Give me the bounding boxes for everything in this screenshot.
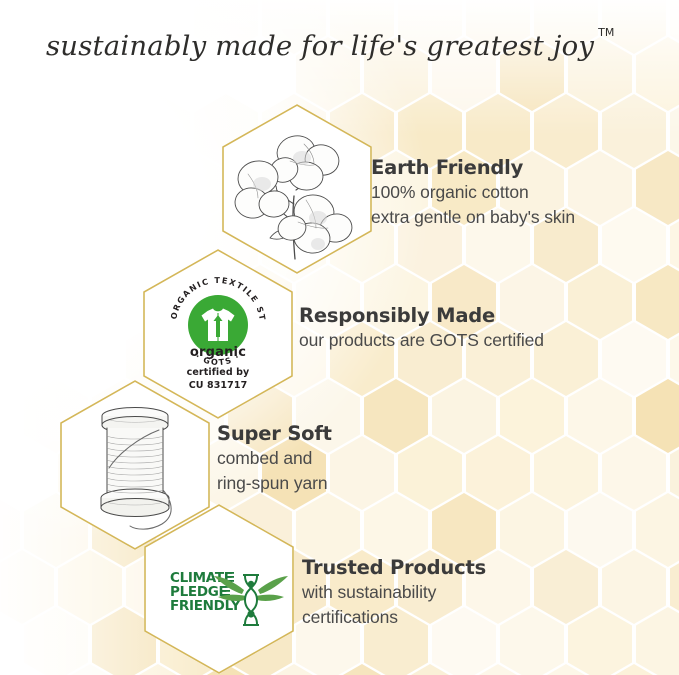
product-feature-infographic: sustainably made for life's greatest joy… xyxy=(0,0,679,675)
honeycomb-background-pattern xyxy=(0,0,679,675)
